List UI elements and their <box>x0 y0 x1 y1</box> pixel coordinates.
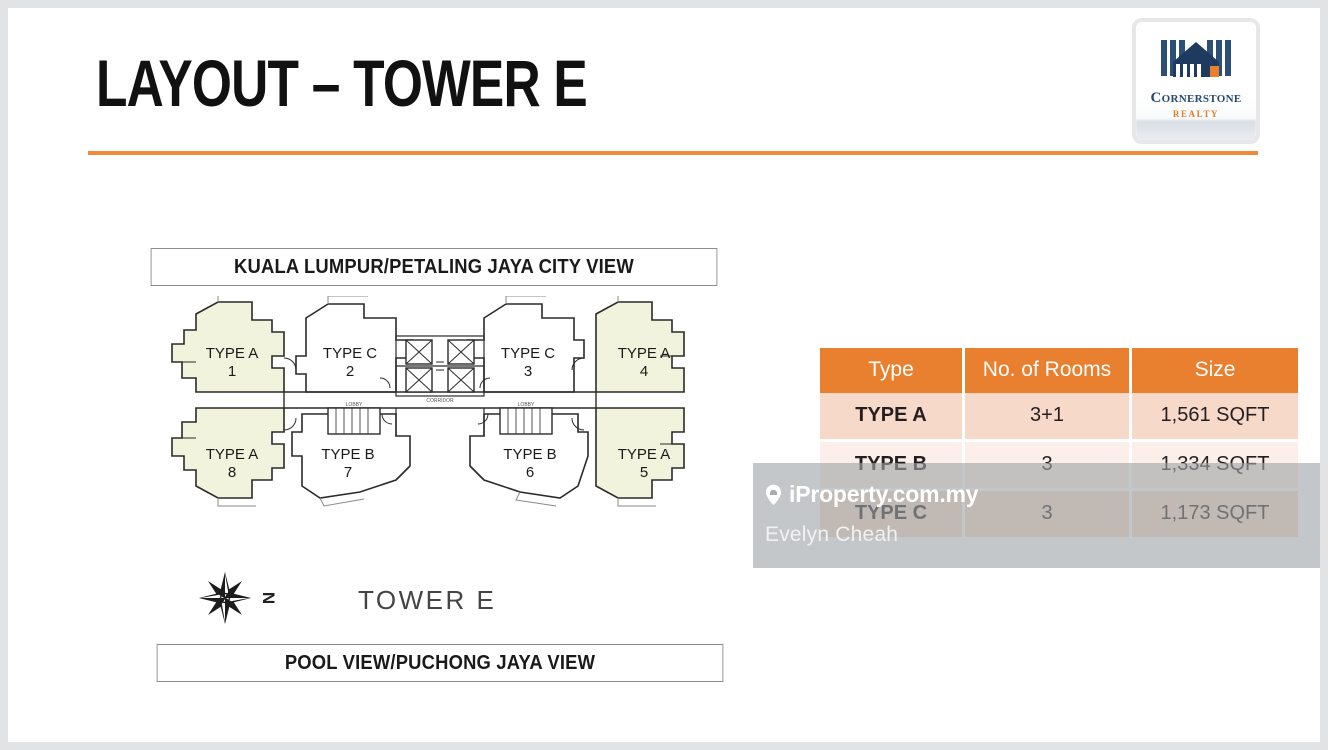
cornerstone-realty-logo: Cornerstone REALTY <box>1132 18 1260 144</box>
logo-reflection <box>1136 120 1256 144</box>
logo-tagline: REALTY <box>1136 109 1256 119</box>
cell-rooms: 3+1 <box>964 393 1131 441</box>
corridor-label: CORRIDOR <box>426 398 454 404</box>
cell-size: 1,561 SQFT <box>1131 393 1299 441</box>
city-view-banner: KUALA LUMPUR/PETALING JAYA CITY VIEW <box>151 248 718 286</box>
tower-label: TOWER E <box>358 585 496 616</box>
lobby-label-right: LOBBY <box>518 402 535 408</box>
iproperty-watermark: iProperty.com.my Evelyn Cheah <box>753 463 1320 568</box>
watermark-brand: iProperty.com.my <box>789 481 978 508</box>
unit-number-c3: 3 <box>524 363 532 380</box>
watermark-agent-name: Evelyn Cheah <box>765 523 898 547</box>
unit-number-b7: 7 <box>344 464 352 481</box>
north-label: N <box>258 592 278 604</box>
floorplan-drawing: TYPE A 1 TYPE C 2 TYPE C 3 TYPE A 4 TYPE… <box>160 296 720 536</box>
column-header-size: Size <box>1131 348 1299 393</box>
floorplan-block: KUALA LUMPUR/PETALING JAYA CITY VIEW <box>120 240 760 685</box>
logo-wordmark: Cornerstone <box>1136 90 1256 107</box>
unit-label-a5: TYPE A <box>618 446 671 463</box>
column-header-type: Type <box>820 348 964 393</box>
unit-number-a1: 1 <box>228 363 236 380</box>
title-accent-rule <box>88 151 1258 155</box>
compass-rose-icon <box>182 570 268 626</box>
column-header-rooms: No. of Rooms <box>964 348 1131 393</box>
location-pin-icon <box>765 484 782 506</box>
table-header-row: Type No. of Rooms Size <box>820 348 1298 393</box>
city-view-banner-label: KUALA LUMPUR/PETALING JAYA CITY VIEW <box>234 256 634 279</box>
table-row: TYPE A 3+1 1,561 SQFT <box>820 393 1298 441</box>
unit-label-a1: TYPE A <box>206 345 259 362</box>
unit-number-c2: 2 <box>346 363 354 380</box>
unit-number-a8: 8 <box>228 464 236 481</box>
pool-view-banner-label: POOL VIEW/PUCHONG JAYA VIEW <box>285 652 595 675</box>
unit-number-b6: 6 <box>526 464 534 481</box>
pool-view-banner: POOL VIEW/PUCHONG JAYA VIEW <box>157 644 724 682</box>
unit-label-b7: TYPE B <box>321 446 374 463</box>
page-title: LAYOUT – TOWER E <box>96 48 587 118</box>
slide-canvas: LAYOUT – TOWER E Cornerstone REALTY KUAL… <box>8 8 1320 742</box>
unit-label-a8: TYPE A <box>206 446 259 463</box>
unit-label-b6: TYPE B <box>503 446 556 463</box>
watermark-brand-row: iProperty.com.my <box>765 481 978 508</box>
lobby-label-left: LOBBY <box>346 402 363 408</box>
unit-number-a4: 4 <box>640 363 648 380</box>
building-icon <box>1159 36 1233 86</box>
cell-type: TYPE A <box>820 393 964 441</box>
unit-number-a5: 5 <box>640 464 648 481</box>
unit-label-c3: TYPE C <box>501 345 555 362</box>
unit-label-c2: TYPE C <box>323 345 377 362</box>
floorplan-svg: TYPE A 1 TYPE C 2 TYPE C 3 TYPE A 4 TYPE… <box>160 296 720 536</box>
unit-label-a4: TYPE A <box>618 345 671 362</box>
